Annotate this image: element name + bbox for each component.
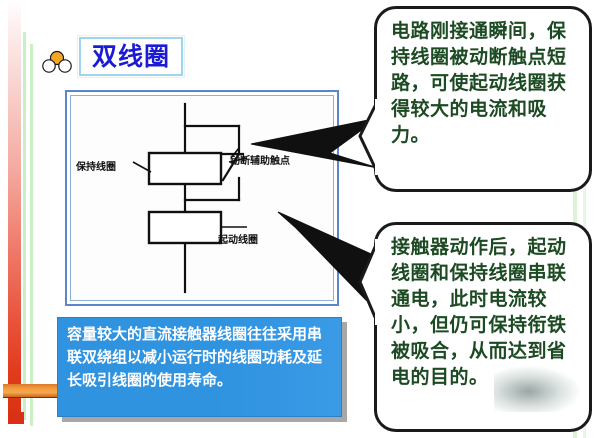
slide-canvas: 双线圈	[0, 0, 600, 438]
callout-2-tail	[358, 236, 384, 330]
callout-after-actuation-text: 接触器动作后，起动线圈和保持线圈串联通电，此时电流较小，但仍可保持衔铁被吸合，从…	[391, 234, 579, 390]
callout-1-tail	[358, 96, 384, 180]
callout-energize-moment: 电路刚接通瞬间，保持线圈被动断触点短路，可使起动线圈获得较大的电流和吸力。	[374, 6, 592, 192]
callout-after-actuation: 接触器动作后，起动线圈和保持线圈串联通电，此时电流较小，但仍可保持衔铁被吸合，从…	[374, 222, 592, 432]
callout-energize-moment-text: 电路刚接通瞬间，保持线圈被动断触点短路，可使起动线圈获得较大的电流和吸力。	[391, 18, 579, 148]
